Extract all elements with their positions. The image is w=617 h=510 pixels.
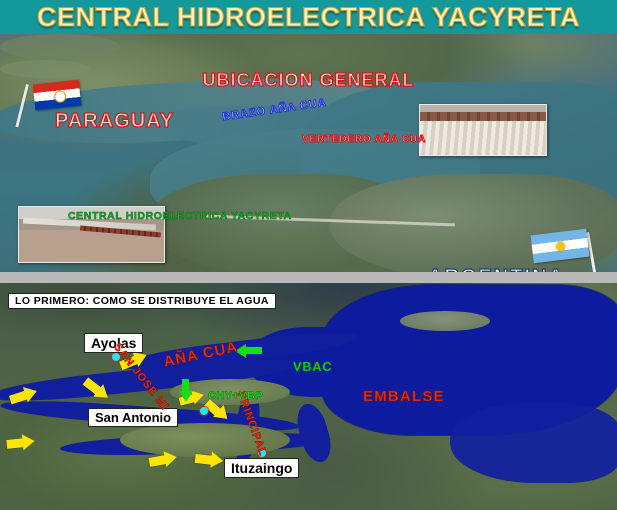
- page-title: CENTRAL HIDROELECTRICA YACYRETA: [0, 0, 617, 34]
- label-embalse: EMBALSE: [363, 388, 445, 405]
- vertedero-photo: [419, 104, 547, 156]
- arrow-head: [22, 433, 36, 450]
- panel-divider: [0, 272, 617, 283]
- top-panel-heading: UBICACION GENERAL: [0, 70, 617, 91]
- reservoir-water-south: [450, 403, 617, 483]
- channel-principal-south: [292, 400, 335, 465]
- spillway-water: [420, 121, 546, 155]
- paraguay-flag-emblem: [54, 90, 67, 103]
- label-vertedero-ana-cua: VERTEDERO AÑA CUA: [302, 134, 426, 145]
- label-central-hidroelectrica-yacyreta: CENTRAL HIDROELECTRICA YACYRETA: [68, 210, 292, 222]
- label-paraguay: PARAGUAY: [55, 110, 174, 133]
- spillway-gates: [420, 112, 546, 121]
- arrow-head: [164, 449, 179, 467]
- top-map-panel: UBICACION GENERAL PARAGUAY BRAZO AÑA CUA…: [0, 34, 617, 272]
- argentina-flag-cloth: [531, 229, 590, 264]
- island-shape-5: [400, 311, 490, 331]
- label-ituzaingo: Ituzaingo: [224, 458, 299, 478]
- arrow-head: [210, 452, 224, 469]
- bottom-map-panel: LO PRIMERO: COMO SE DISTRIBUYE EL AGUA A…: [0, 283, 617, 510]
- bottom-panel-heading: LO PRIMERO: COMO SE DISTRIBUYE EL AGUA: [8, 293, 276, 309]
- sun-of-may-icon: [556, 241, 566, 251]
- station-marker-san-antonio: [200, 407, 208, 415]
- slide-image: CENTRAL HIDROELECTRICA YACYRETA: [0, 0, 617, 510]
- label-chy-vbp: CHY+VBP: [208, 390, 263, 402]
- island-shape-1: [0, 34, 120, 60]
- label-vbac: VBAC: [293, 359, 332, 374]
- arrow-shaft: [244, 347, 262, 354]
- arrow-head: [179, 391, 193, 402]
- label-san-antonio: San Antonio: [88, 408, 178, 427]
- title-bar: CENTRAL HIDROELECTRICA YACYRETA: [0, 0, 617, 34]
